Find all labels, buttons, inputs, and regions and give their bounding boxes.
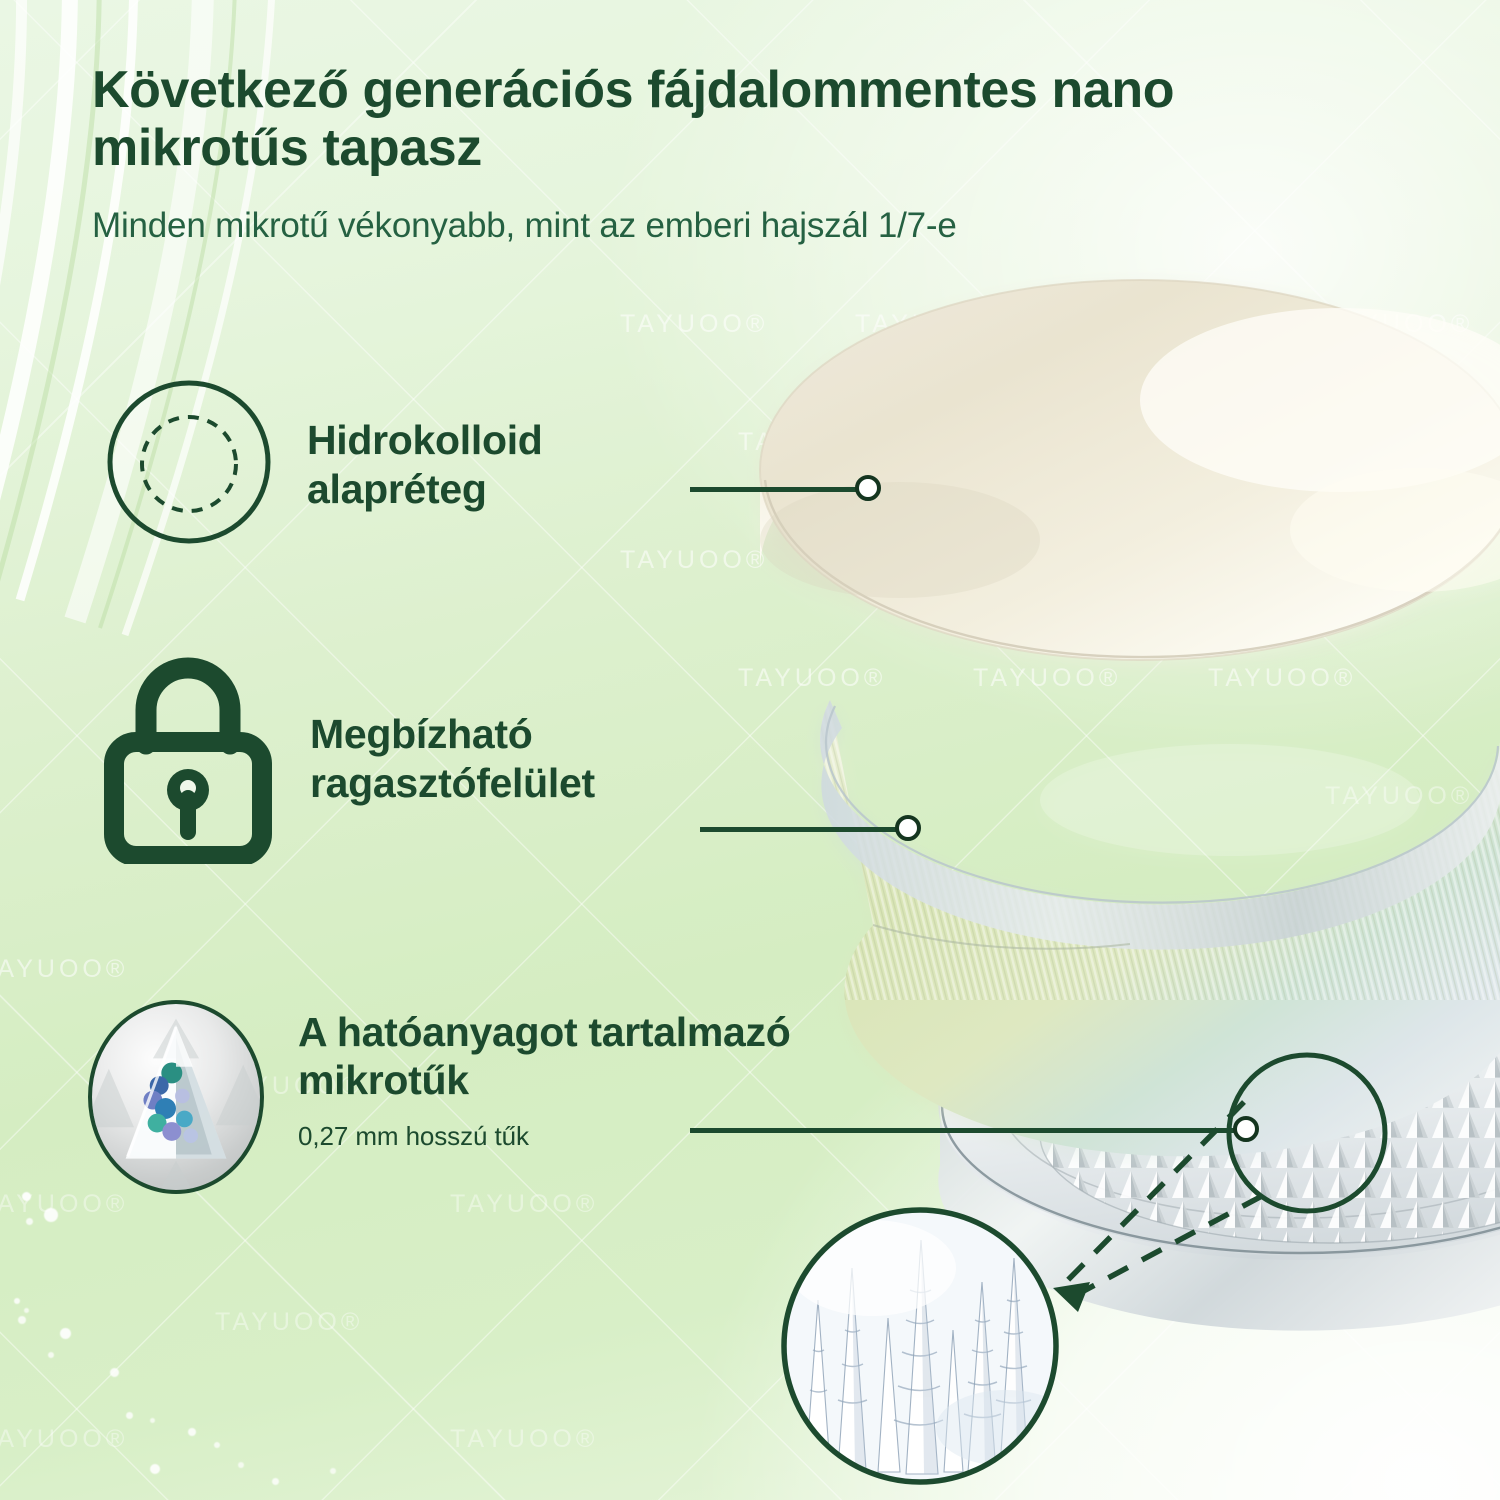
feature-subtext: 0,27 mm hosszú tűk	[298, 1121, 790, 1152]
callout-line-hydrocolloid	[690, 487, 870, 492]
page-subtitle: Minden mikrotű vékonyabb, mint az emberi…	[92, 205, 1272, 247]
callout-dot-adhesive	[895, 815, 921, 841]
feature-title-line2: alapréteg	[307, 465, 543, 513]
dashed-circle-icon	[105, 378, 273, 551]
hydrocolloid-layer-graphic	[760, 280, 1500, 660]
callout-dot-microneedles	[1233, 1116, 1259, 1142]
page-title: Következő generációs fájdalommentes nano…	[92, 62, 1272, 177]
feature-title-line1: Megbízható	[310, 710, 595, 758]
feature-adhesive: Megbízható ragasztófelület	[100, 648, 595, 869]
molecule-pyramid-icon	[88, 1000, 264, 1194]
feature-title-line1: A hatóanyagot tartalmazó	[298, 1008, 790, 1056]
callout-dot-hydrocolloid	[855, 475, 881, 501]
callout-line-microneedles	[690, 1128, 1250, 1133]
padlock-icon	[100, 648, 276, 869]
callout-line-adhesive	[700, 827, 912, 832]
feature-title-line2: ragasztófelület	[310, 759, 595, 807]
feature-title-line1: Hidrokolloid	[307, 416, 543, 464]
product-infographic-poster: TAYUOO® TAYUOO® TAYUOO® TAYUOO® TAYUOO® …	[0, 0, 1500, 1500]
feature-microneedles: A hatóanyagot tartalmazó mikrotűk 0,27 m…	[88, 1000, 790, 1194]
adhesive-layer-graphic	[780, 640, 1500, 1156]
feature-title-line2: mikrotűk	[298, 1056, 790, 1104]
poster-header: Következő generációs fájdalommentes nano…	[92, 62, 1272, 247]
feature-hydrocolloid: Hidrokolloid alapréteg	[105, 378, 543, 551]
